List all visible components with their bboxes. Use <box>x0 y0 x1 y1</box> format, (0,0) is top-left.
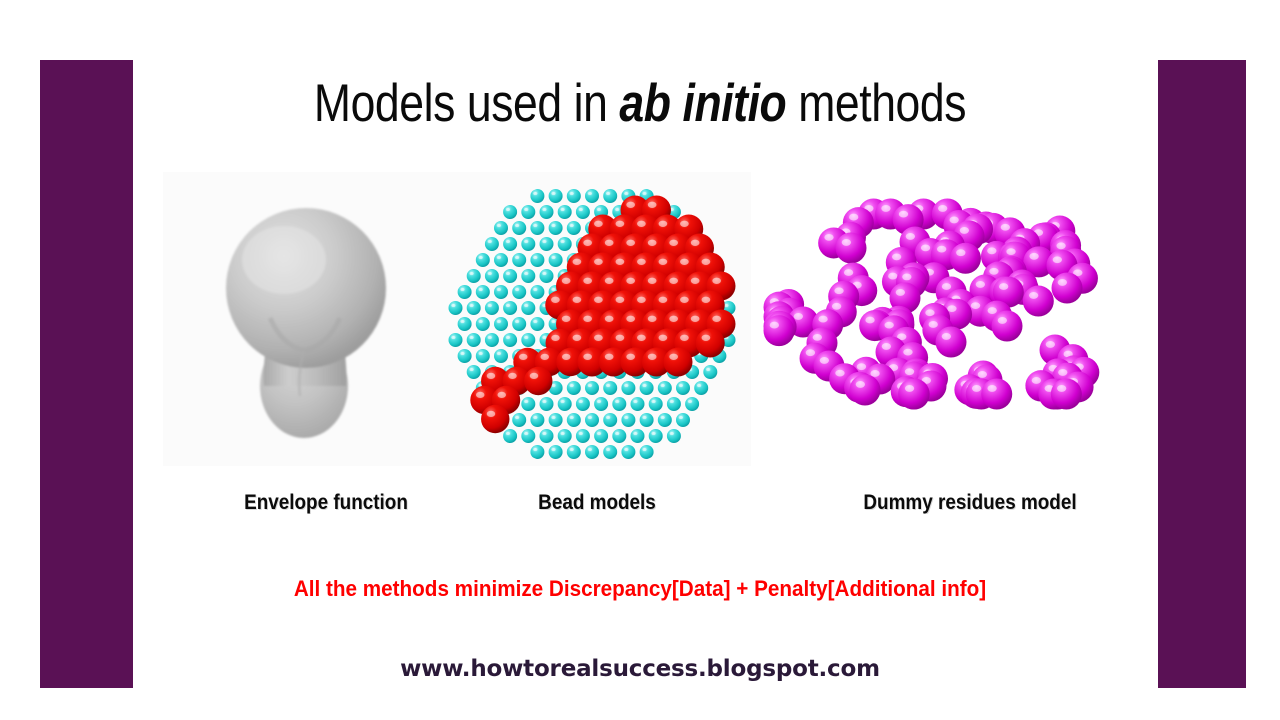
bead-highlight <box>659 297 668 303</box>
bead-highlight <box>637 335 646 341</box>
cyan-bead <box>540 205 554 219</box>
bead-highlight <box>896 289 905 296</box>
bead-highlight <box>570 224 574 227</box>
cyan-bead <box>694 381 708 395</box>
cyan-bead <box>558 429 572 443</box>
cyan-bead <box>521 269 535 283</box>
magenta-bead <box>836 233 867 264</box>
cyan-bead <box>530 317 544 331</box>
cyan-bead <box>512 221 526 235</box>
bead-highlight <box>832 303 841 310</box>
bead-highlight <box>691 278 700 284</box>
bead-highlight <box>1032 377 1041 384</box>
bead-highlight <box>1057 385 1066 392</box>
bead-highlight <box>460 288 464 291</box>
cyan-bead <box>512 285 526 299</box>
cyan-bead <box>549 189 563 203</box>
bead-highlight <box>533 224 537 227</box>
bead-highlight <box>487 411 496 417</box>
bead-highlight <box>488 272 492 275</box>
bead-highlight <box>524 304 528 307</box>
bead-highlight <box>624 384 628 387</box>
cyan-bead <box>476 285 490 299</box>
cyan-bead <box>512 317 526 331</box>
bead-highlight <box>929 321 938 328</box>
bead-highlight <box>921 244 930 251</box>
cyan-bead <box>540 237 554 251</box>
cyan-bead <box>458 317 472 331</box>
bead-highlight <box>999 283 1008 290</box>
bead-highlight <box>542 400 546 403</box>
cyan-bead <box>521 237 535 251</box>
bead-highlight <box>978 371 987 378</box>
bead-highlight <box>524 336 528 339</box>
bead-highlight <box>659 259 668 265</box>
bead-highlight <box>594 297 603 303</box>
bead-highlight <box>648 278 657 284</box>
bead-highlight <box>712 278 721 284</box>
bead-highlight <box>551 192 555 195</box>
red-bead <box>481 405 509 433</box>
bead-highlight <box>515 416 519 419</box>
bead-highlight <box>524 400 528 403</box>
bead-highlight <box>626 354 635 360</box>
bead-highlight <box>573 259 582 265</box>
cyan-bead <box>594 429 608 443</box>
cyan-bead <box>621 445 635 459</box>
bead-highlight <box>497 224 501 227</box>
magenta-bead <box>936 327 967 358</box>
cyan-bead <box>449 301 463 315</box>
red-bead <box>524 367 552 395</box>
figure-envelope-function <box>180 190 460 460</box>
bead-highlight <box>637 259 646 265</box>
bead-highlight <box>702 297 711 303</box>
bead-highlight <box>551 224 555 227</box>
bead-highlight <box>561 208 565 211</box>
bead-highlight <box>626 202 635 208</box>
bead-highlight <box>905 368 914 375</box>
bead-highlight <box>989 268 998 275</box>
bead-highlight <box>820 357 829 364</box>
bead-highlight <box>987 247 996 254</box>
bead-highlight <box>1056 242 1065 249</box>
cyan-bead <box>585 381 599 395</box>
bead-highlight <box>637 297 646 303</box>
bead-highlight <box>626 240 635 246</box>
bead-highlight <box>870 370 879 377</box>
bead-highlight <box>533 288 537 291</box>
title-italic-term: ab initio <box>619 74 786 133</box>
grey-blob-envelope-icon <box>180 190 460 460</box>
cyan-bead <box>512 253 526 267</box>
bead-highlight <box>579 432 583 435</box>
bead-highlight <box>972 385 981 392</box>
bead-highlight <box>947 305 956 312</box>
bead-highlight <box>451 304 455 307</box>
bead-highlight <box>524 208 528 211</box>
cyan-bead <box>558 397 572 411</box>
cyan-bead <box>649 397 663 411</box>
cyan-bead <box>485 269 499 283</box>
cyan-bead <box>485 237 499 251</box>
cyan-bead <box>576 205 590 219</box>
cyan-bead <box>658 413 672 427</box>
bead-highlight <box>573 297 582 303</box>
bead-highlight <box>669 316 678 322</box>
bead-highlight <box>680 221 689 227</box>
bead-highlight <box>479 256 483 259</box>
cyan-bead <box>503 301 517 315</box>
bead-highlight <box>942 283 951 290</box>
bead-highlight <box>806 349 815 356</box>
bead-highlight <box>606 192 610 195</box>
bead-highlight <box>834 287 843 294</box>
cyan-bead <box>521 397 535 411</box>
bead-highlight <box>597 432 601 435</box>
bead-highlight <box>562 354 571 360</box>
bead-highlight <box>1029 292 1038 299</box>
bead-highlight <box>712 316 721 322</box>
bead-highlight <box>648 316 657 322</box>
bead-highlight <box>616 335 625 341</box>
bead-highlight <box>533 448 537 451</box>
cyan-bead <box>703 365 717 379</box>
cyan-bead <box>467 301 481 315</box>
bead-highlight <box>519 354 528 360</box>
bead-highlight <box>626 316 635 322</box>
cyan-bead <box>494 317 508 331</box>
bead-highlight <box>460 352 464 355</box>
bead-highlight <box>697 384 701 387</box>
bead-highlight <box>706 368 710 371</box>
red-bead <box>664 348 693 377</box>
bead-highlight <box>976 281 985 288</box>
bead-highlight <box>533 416 537 419</box>
bead-highlight <box>824 234 833 241</box>
bead-highlight <box>1001 224 1010 231</box>
bead-highlight <box>987 385 996 392</box>
cyan-bead <box>530 413 544 427</box>
bead-highlight <box>506 240 510 243</box>
cyan-bead <box>449 333 463 347</box>
cyan-bead <box>576 397 590 411</box>
cyan-bead <box>540 397 554 411</box>
bead-highlight <box>988 307 997 314</box>
bead-highlight <box>551 256 555 259</box>
cyan-bead <box>521 205 535 219</box>
bead-highlight <box>857 363 866 370</box>
red-bead <box>696 329 725 358</box>
bead-highlight <box>1006 248 1015 255</box>
bead-highlight <box>551 288 555 291</box>
bead-highlight <box>770 322 779 329</box>
bead-highlight <box>479 320 483 323</box>
bead-highlight <box>605 316 614 322</box>
cyan-bead <box>585 189 599 203</box>
footer-url[interactable]: www.howtorealsuccess.blogspot.com <box>0 656 1280 682</box>
bead-highlight <box>813 334 822 341</box>
bead-highlight <box>588 384 592 387</box>
bead-highlight <box>524 272 528 275</box>
bead-highlight <box>533 256 537 259</box>
bead-highlight <box>588 448 592 451</box>
cyan-bead <box>567 413 581 427</box>
bead-highlight <box>633 400 637 403</box>
bead-highlight <box>561 240 565 243</box>
bead-highlight <box>515 288 519 291</box>
cyan-bead <box>612 397 626 411</box>
cyan-bead <box>549 253 563 267</box>
bead-highlight <box>594 259 603 265</box>
cyan-bead <box>494 349 508 363</box>
cyan-bead <box>476 253 490 267</box>
bead-highlight <box>506 304 510 307</box>
bead-highlight <box>691 240 700 246</box>
figure-dummy-residues <box>755 190 1125 415</box>
bead-highlight <box>542 432 546 435</box>
bead-highlight <box>642 448 646 451</box>
bead-highlight <box>835 370 844 377</box>
bead-highlight <box>551 320 555 323</box>
bead-highlight <box>818 316 827 323</box>
bead-highlight <box>506 208 510 211</box>
bead-highlight <box>882 343 891 350</box>
bead-highlight <box>661 384 665 387</box>
bead-highlight <box>579 208 583 211</box>
cyan-bead <box>503 237 517 251</box>
bead-highlight <box>479 352 483 355</box>
magenta-sphere-cluster-icon <box>755 190 1125 415</box>
magenta-bead <box>1052 273 1083 304</box>
bead-highlight <box>515 224 519 227</box>
cyan-bead <box>494 253 508 267</box>
magenta-bead <box>950 243 981 274</box>
bead-highlight <box>524 432 528 435</box>
cyan-bead <box>676 413 690 427</box>
bead-highlight <box>633 432 637 435</box>
cyan-bead <box>585 445 599 459</box>
bead-highlight <box>670 432 674 435</box>
bead-highlight <box>724 304 728 307</box>
bead-highlight <box>530 373 539 379</box>
bead-highlight <box>659 221 668 227</box>
bead-highlight <box>615 432 619 435</box>
bead-highlight <box>476 392 485 398</box>
bead-highlight <box>642 416 646 419</box>
bead-highlight <box>570 448 574 451</box>
cyan-bead <box>467 333 481 347</box>
magenta-bead <box>899 379 930 410</box>
bead-highlight <box>460 320 464 323</box>
bead-highlight <box>688 400 692 403</box>
title-suffix: methods <box>786 74 966 133</box>
cyan-bead <box>567 445 581 459</box>
bead-highlight <box>998 317 1007 324</box>
bead-highlight <box>648 354 657 360</box>
cyan-bead <box>494 285 508 299</box>
bead-highlight <box>597 400 601 403</box>
bead-highlight <box>533 192 537 195</box>
bead-highlight <box>648 202 657 208</box>
cyan-bead <box>549 221 563 235</box>
cyan-bead <box>640 381 654 395</box>
cyan-bead <box>512 413 526 427</box>
bead-highlight <box>888 273 897 280</box>
cyan-bead <box>503 205 517 219</box>
bead-highlight <box>892 253 901 260</box>
magenta-bead <box>850 375 881 406</box>
bead-highlight <box>899 211 908 218</box>
cyan-bead <box>458 285 472 299</box>
cyan-bead <box>612 429 626 443</box>
bead-highlight <box>624 448 628 451</box>
cyan-bead <box>585 413 599 427</box>
bead-highlight <box>856 381 865 388</box>
cyan-bead <box>530 445 544 459</box>
bead-highlight <box>956 249 965 256</box>
cyan-bead <box>621 413 635 427</box>
bead-highlight <box>542 208 546 211</box>
bead-highlight <box>881 205 890 212</box>
cyan-bead <box>621 381 635 395</box>
magenta-bead <box>981 379 1012 410</box>
bead-highlight <box>497 392 506 398</box>
bead-highlight <box>925 309 934 316</box>
bead-highlight <box>1053 256 1062 263</box>
cyan-bead <box>667 429 681 443</box>
cyan-bead <box>503 269 517 283</box>
bead-highlight <box>624 416 628 419</box>
bead-highlight <box>583 354 592 360</box>
bead-highlight <box>938 205 947 212</box>
caption-envelope-function: Envelope function <box>196 491 457 515</box>
bead-highlight <box>906 233 915 240</box>
cyan-bead <box>631 397 645 411</box>
bead-highlight <box>583 316 592 322</box>
bead-highlight <box>1029 253 1038 260</box>
cyan-bead <box>549 445 563 459</box>
bead-highlight <box>637 221 646 227</box>
bead-highlight <box>691 316 700 322</box>
bead-highlight <box>652 400 656 403</box>
cyan-bead <box>503 333 517 347</box>
bead-highlight <box>551 335 560 341</box>
bead-highlight <box>905 385 914 392</box>
cyan-bead <box>594 397 608 411</box>
bead-highlight <box>606 416 610 419</box>
bead-highlight <box>616 221 625 227</box>
bead-highlight <box>626 278 635 284</box>
bead-highlight <box>680 259 689 265</box>
bead-highlight <box>960 227 969 234</box>
magenta-bead <box>992 311 1023 342</box>
bead-highlight <box>616 297 625 303</box>
bead-highlight <box>648 240 657 246</box>
bead-highlight <box>583 240 592 246</box>
bead-highlight <box>702 259 711 265</box>
bead-highlight <box>487 373 496 379</box>
cyan-bead <box>558 237 572 251</box>
magenta-bead <box>1051 379 1082 410</box>
cyan-bead <box>467 269 481 283</box>
bead-highlight <box>508 373 517 379</box>
page-title: Models used in ab initio methods <box>102 72 1177 136</box>
bead-highlight <box>542 272 546 275</box>
cyan-bead <box>503 429 517 443</box>
bead-highlight <box>594 221 603 227</box>
cyan-bead <box>603 189 617 203</box>
bead-highlight <box>588 416 592 419</box>
bead-highlight <box>885 322 894 329</box>
cyan-bead <box>576 429 590 443</box>
bead-highlight <box>971 302 980 309</box>
bead-highlight <box>605 354 614 360</box>
magenta-bead <box>1023 286 1054 317</box>
bead-highlight <box>606 384 610 387</box>
cyan-bead <box>667 397 681 411</box>
cyan-bead <box>476 349 490 363</box>
cyan-bead <box>521 429 535 443</box>
cyan-bead <box>567 189 581 203</box>
cyan-bead <box>549 413 563 427</box>
bead-highlight <box>570 416 574 419</box>
bead-highlight <box>669 278 678 284</box>
bead-highlight <box>642 192 646 195</box>
figure-bead-models <box>432 178 752 470</box>
bead-highlight <box>551 297 560 303</box>
bead-highlight <box>573 335 582 341</box>
cyan-bead <box>540 429 554 443</box>
cyan-bead <box>558 205 572 219</box>
bead-highlight <box>679 416 683 419</box>
bead-highlight <box>497 288 501 291</box>
bead-highlight <box>488 336 492 339</box>
bead-highlight <box>661 416 665 419</box>
cyan-bead <box>658 381 672 395</box>
bead-highlight <box>551 416 555 419</box>
cyan-bead <box>640 445 654 459</box>
bead-highlight <box>849 214 858 221</box>
bead-highlight <box>597 208 601 211</box>
cyan-bead <box>530 253 544 267</box>
cyan-bead <box>530 189 544 203</box>
bead-highlight <box>902 273 911 280</box>
bead-highlight <box>561 400 565 403</box>
bead-highlight <box>702 335 711 341</box>
bead-highlight <box>642 384 646 387</box>
bead-highlight <box>488 240 492 243</box>
bead-highlight <box>680 335 689 341</box>
bead-highlight <box>844 269 853 276</box>
bead-highlight <box>937 246 946 253</box>
bead-highlight <box>515 256 519 259</box>
cyan-bead <box>521 301 535 315</box>
bead-highlight <box>652 432 656 435</box>
bead-highlight <box>865 317 874 324</box>
bead-highlight <box>542 336 546 339</box>
bead-highlight <box>533 320 537 323</box>
bead-highlight <box>670 400 674 403</box>
cyan-bead <box>685 397 699 411</box>
bead-highlight <box>605 278 614 284</box>
cyan-bead <box>567 221 581 235</box>
bead-highlight <box>605 240 614 246</box>
bead-highlight <box>506 272 510 275</box>
bead-highlight <box>506 336 510 339</box>
cyan-bead <box>631 429 645 443</box>
cyan-bead <box>467 365 481 379</box>
